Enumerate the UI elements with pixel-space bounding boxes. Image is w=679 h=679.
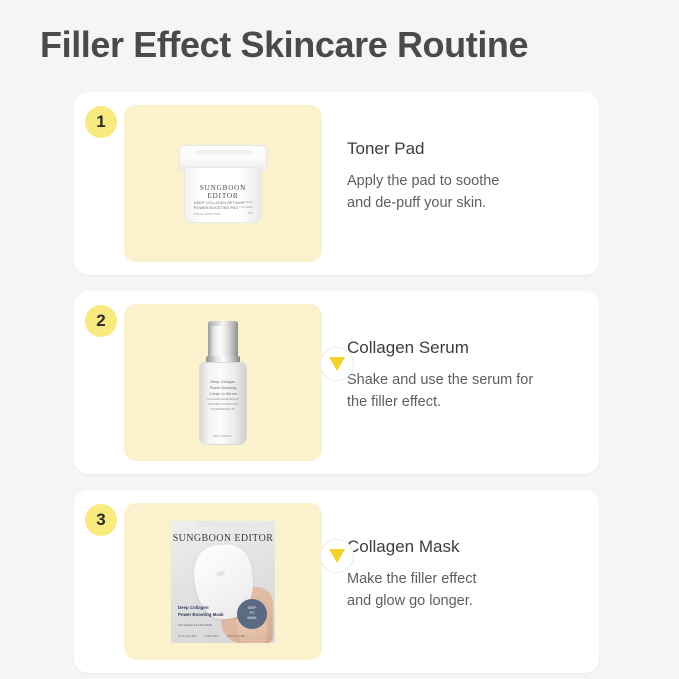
step-heading-2: Collagen Serum [347,338,586,358]
mask-title-line-2: Power Boosting Mask [178,611,224,618]
mask-brand-text: SUNGBOON EDITOR [171,533,275,544]
step-card-3[interactable]: 3 SUNGBOON EDITOR Deep Collagen Power Bo [74,490,599,673]
page-title: Filler Effect Skincare Routine [40,24,528,66]
jar-body: SUNGBOON EDITOR DEEP COLLAGEN RETINOL PO… [184,167,262,223]
mask-footer-tag-3: MOISTURE [227,634,245,638]
chevron-down-icon [329,549,345,563]
product-image-3: SUNGBOON EDITOR Deep Collagen Power Boos… [124,503,322,660]
step-description-3-line-2: and glow go longer. [347,590,586,612]
collagen-serum-bottle-illustration: Deep Collagen Power Boosting Cream In Se… [195,321,251,445]
serum-pump-cap [208,321,238,359]
step-description-2-line-2: the filler effect. [347,391,586,413]
mask-footer-tag-1: COLLAGEN [178,634,196,638]
collagen-mask-pouch-illustration: SUNGBOON EDITOR Deep Collagen Power Boos… [171,521,275,643]
step-description-1: Apply the pad to soothe and de-puff your… [347,170,586,215]
jar-side-line-3: PAD [239,211,253,217]
step-description-3-line-1: Make the filler effect [347,568,586,590]
serum-body-line-3: SHAKE BEFORE USE [200,407,246,412]
mask-eye-opening [216,570,226,577]
step-card-2[interactable]: 2 Deep Collagen Power Boosting Cream In … [74,291,599,474]
product-image-stage-2: Deep Collagen Power Boosting Cream In Se… [124,304,322,461]
mask-footer-tag-2: FIRMING [205,634,220,638]
jar-side-text: RETINOL COLLAGEN PAD [239,200,253,218]
product-image-2: Deep Collagen Power Boosting Cream In Se… [124,304,322,461]
step-heading-3: Collagen Mask [347,537,586,557]
step-list: 1 SUNGBOON EDITOR DEEP COLLAGEN RETINOL … [74,92,599,679]
serum-label-title: Deep Collagen Power Boosting Cream In Se… [200,379,246,398]
jar-fine-print: FOR ALL SKIN TYPES [194,213,221,216]
step-description-1-line-2: and de-puff your skin. [347,192,586,214]
chevron-down-icon [329,357,345,371]
product-image-1: SUNGBOON EDITOR DEEP COLLAGEN RETINOL PO… [124,105,322,262]
serum-pump-head [210,321,236,326]
jar-label-text: DEEP COLLAGEN RETINOL POWER BOOSTING PAD [194,201,244,213]
mask-badge-line-3: MASK [247,616,256,621]
product-image-stage-3: SUNGBOON EDITOR Deep Collagen Power Boos… [124,503,322,660]
mask-seal-badge: DEEP FIT MASK [237,599,267,629]
step-description-1-line-1: Apply the pad to soothe [347,170,586,192]
step-description-2: Shake and use the serum for the filler e… [347,369,586,414]
step-number-badge-1: 1 [85,106,117,138]
mask-title-line-1: Deep Collagen [178,604,224,611]
routine-infographic: Filler Effect Skincare Routine 1 SUNGBOO… [0,0,679,679]
step-heading-1: Toner Pad [347,139,586,159]
mask-subtitle-text: COLLAGEN FILLER MASK [178,623,212,627]
jar-label-line-2: POWER BOOSTING PAD [194,206,244,212]
mask-footer-tags: COLLAGEN FIRMING MOISTURE [178,634,252,638]
step-description-2-line-1: Shake and use the serum for [347,369,586,391]
step-text-3: Collagen Mask Make the filler effect and… [322,503,586,613]
step-description-3: Make the filler effect and glow go longe… [347,568,586,613]
step-number-badge-2: 2 [85,305,117,337]
toner-pad-jar-illustration: SUNGBOON EDITOR DEEP COLLAGEN RETINOL PO… [176,145,270,223]
step-number-badge-3: 3 [85,504,117,536]
arrow-step-1-to-2 [320,347,354,381]
serum-label-body-text: COLLAGEN FILLER EFFECT FOR FIRM GLOWING … [200,397,246,412]
step-text-1: Toner Pad Apply the pad to soothe and de… [322,105,586,215]
step-card-1[interactable]: 1 SUNGBOON EDITOR DEEP COLLAGEN RETINOL … [74,92,599,275]
mask-title-text: Deep Collagen Power Boosting Mask [178,604,224,619]
mask-pouch-notch [197,521,249,527]
jar-brand-text: SUNGBOON EDITOR [185,184,261,200]
serum-volume-text: 50ml / 1.69 fl.oz. [200,435,246,438]
jar-lid-highlight [196,150,252,155]
product-image-stage-1: SUNGBOON EDITOR DEEP COLLAGEN RETINOL PO… [124,105,322,262]
arrow-step-2-to-3 [320,539,354,573]
serum-bottle-body: Deep Collagen Power Boosting Cream In Se… [199,362,247,445]
step-text-2: Collagen Serum Shake and use the serum f… [322,304,586,414]
